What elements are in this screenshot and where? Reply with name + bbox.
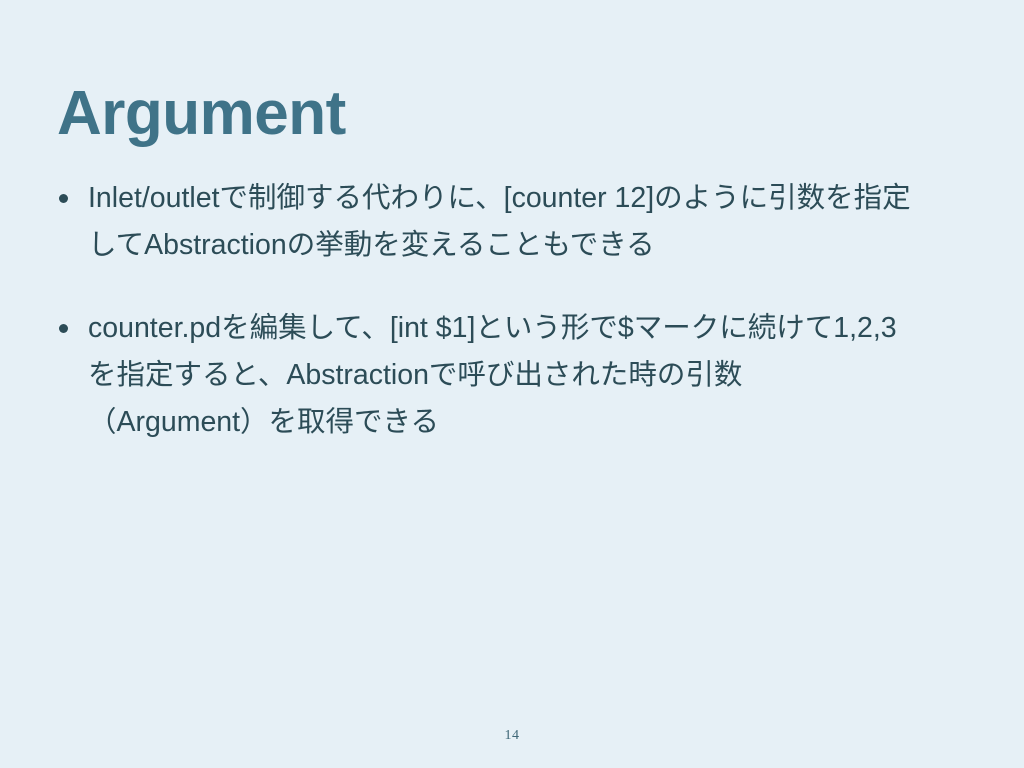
list-item: counter.pdを編集して、[int $1]という形で$マークに続けて1,2… [50,305,990,446]
list-item-text: counter.pdを編集して、[int $1]という形で$マークに続けて1,2… [88,305,990,446]
presentation-slide: Argument Inlet/outletで制御する代わりに、[counter … [0,0,1024,768]
list-item-text: Inlet/outletで制御する代わりに、[counter 12]のように引数… [88,175,990,269]
bullet-dot-icon [59,324,68,333]
bullet-list: Inlet/outletで制御する代わりに、[counter 12]のように引数… [50,175,990,446]
page-number: 14 [0,728,1024,744]
page-title: Argument [57,83,346,145]
list-item: Inlet/outletで制御する代わりに、[counter 12]のように引数… [50,175,990,269]
bullet-dot-icon [59,194,68,203]
